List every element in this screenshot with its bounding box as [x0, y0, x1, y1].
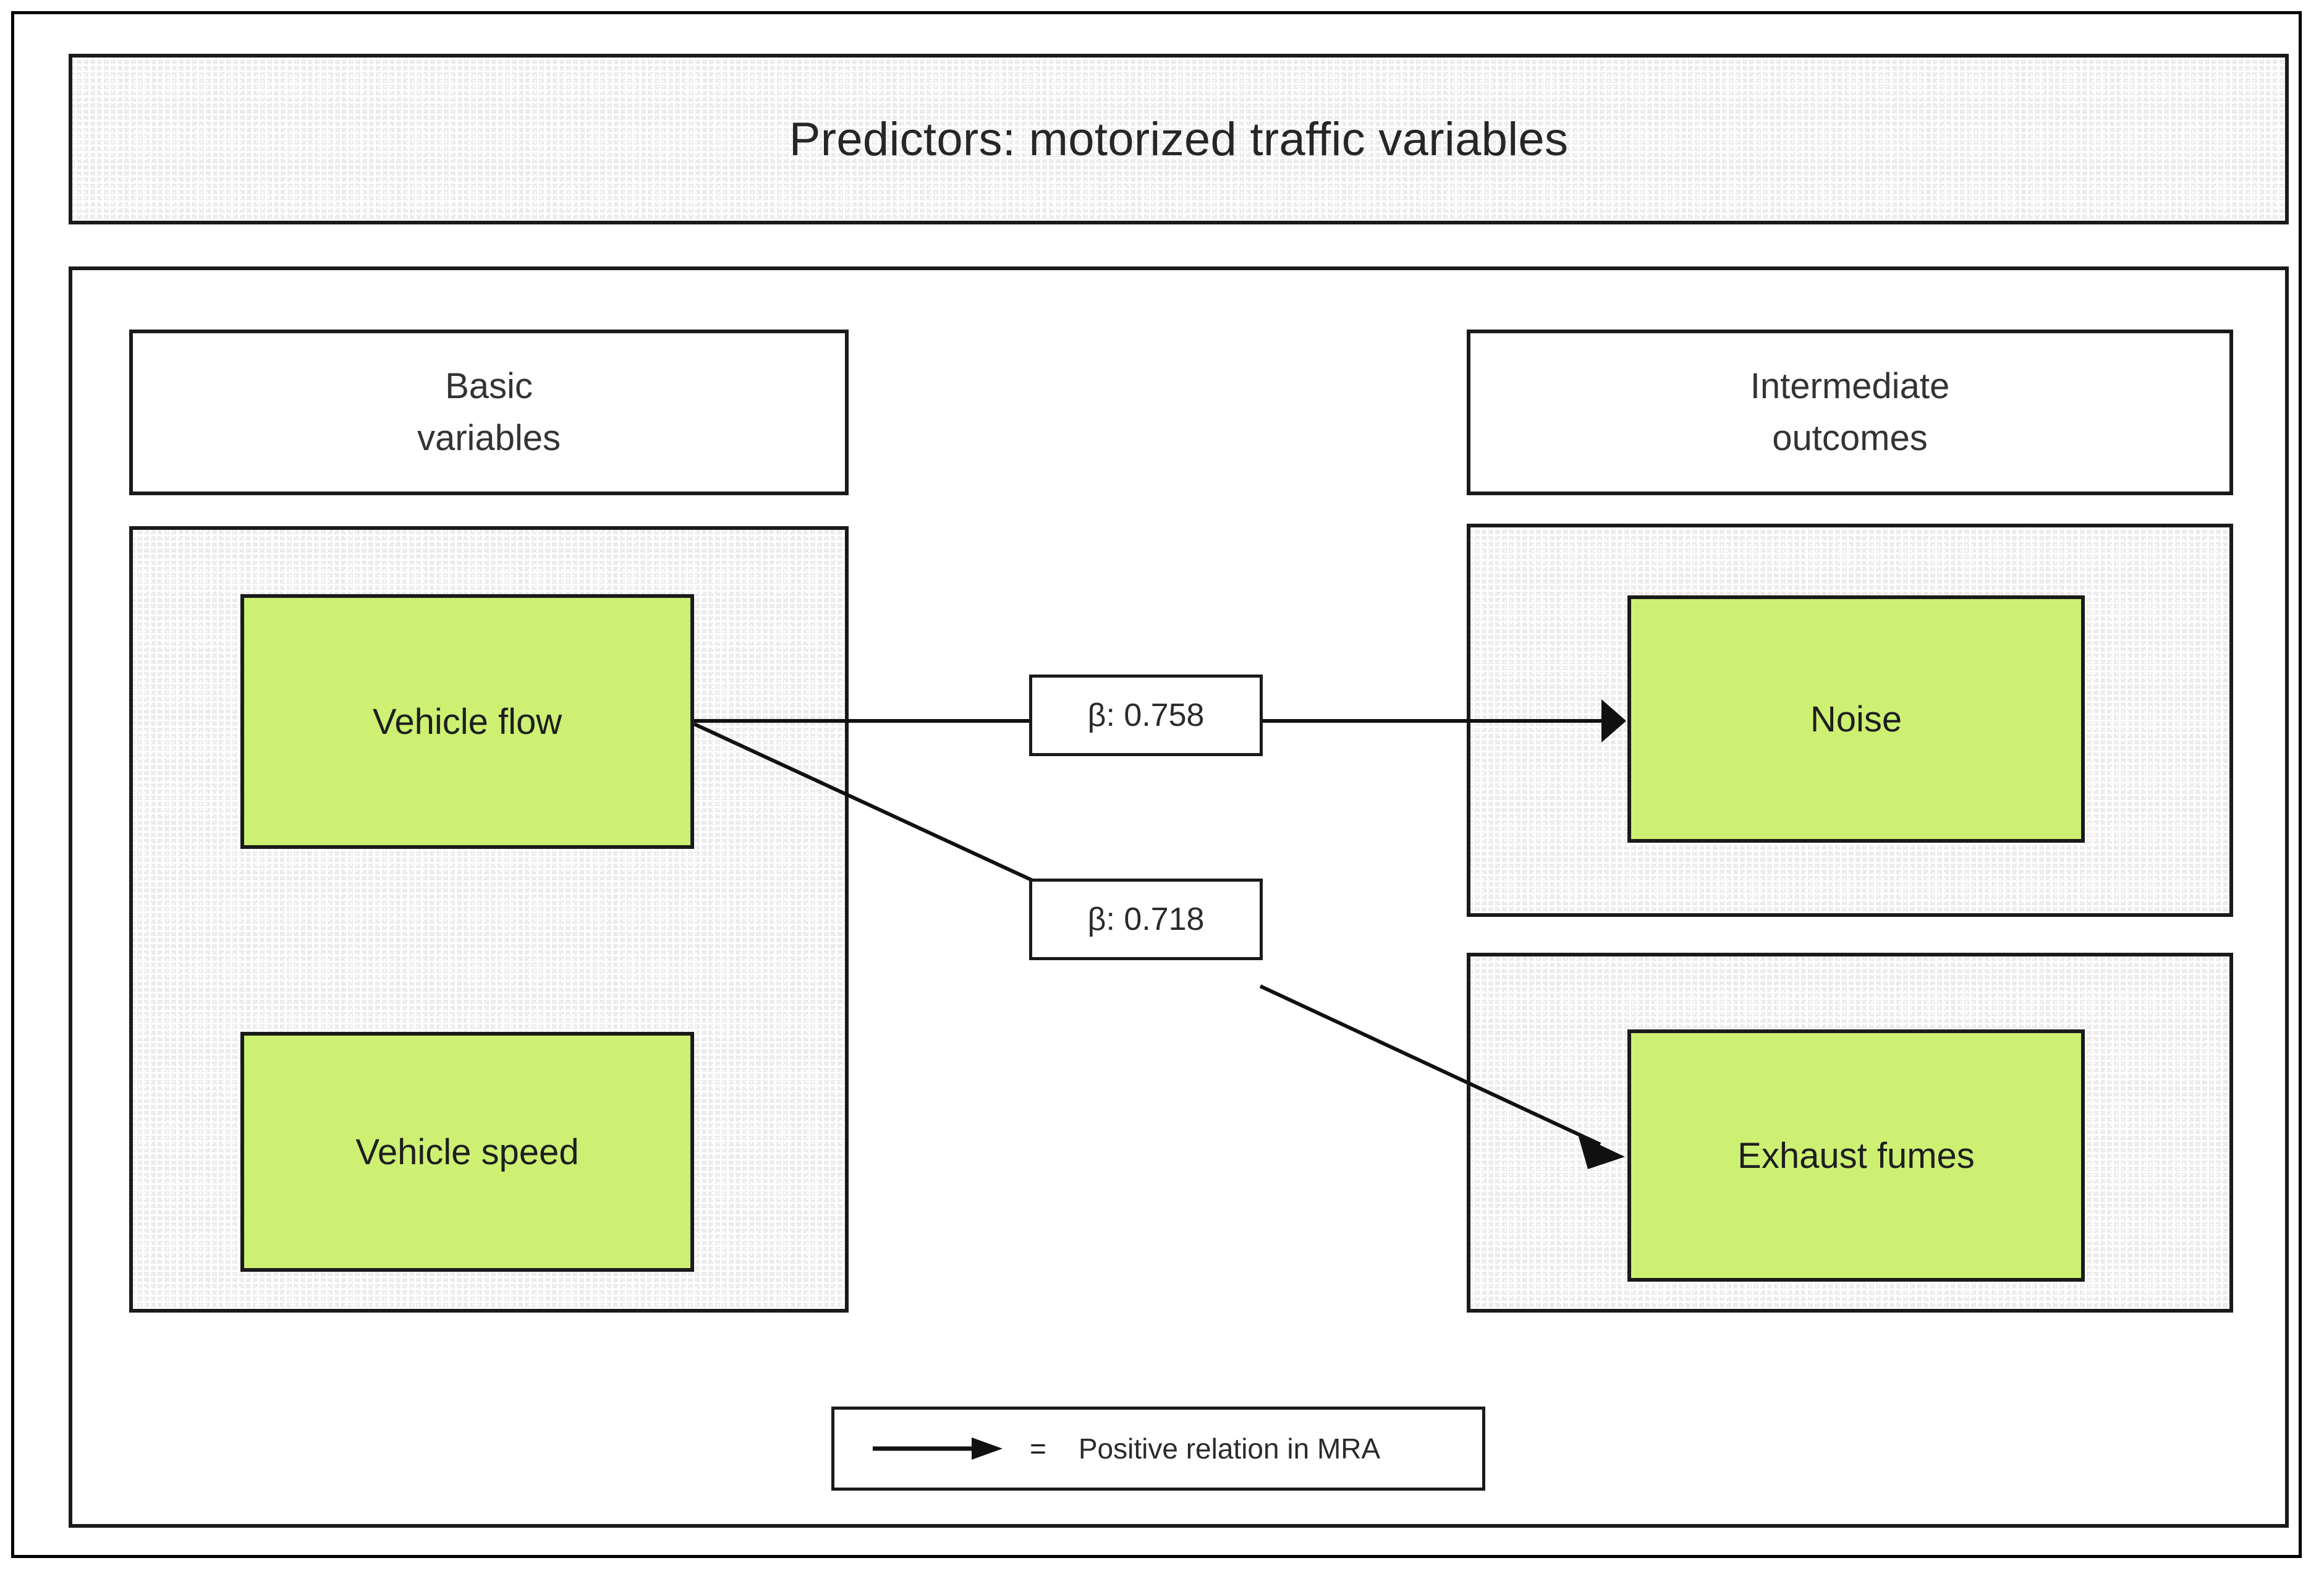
column-header-outcomes-line1: Intermediate — [1750, 360, 1949, 412]
legend: = Positive relation in MRA — [831, 1407, 1485, 1491]
figure-outer-border: Predictors: motorized traffic variables … — [11, 11, 2302, 1558]
legend-label: Positive relation in MRA — [1079, 1432, 1380, 1465]
column-header-basic-line2: variables — [417, 412, 561, 464]
column-header-basic-line1: Basic — [445, 360, 533, 412]
node-noise-label: Noise — [1810, 699, 1902, 740]
node-vehicle-flow[interactable]: Vehicle flow — [240, 594, 694, 849]
legend-equals-sign: = — [1030, 1432, 1046, 1465]
column-header-basic-variables: Basic variables — [129, 330, 849, 495]
page-title: Predictors: motorized traffic variables — [789, 113, 1569, 166]
edge-label-beta-noise: β: 0.758 — [1029, 675, 1263, 756]
figure-title-banner: Predictors: motorized traffic variables — [69, 54, 2289, 224]
node-exhaust-fumes[interactable]: Exhaust fumes — [1627, 1029, 2085, 1282]
column-header-outcomes-line2: outcomes — [1772, 412, 1927, 464]
edge-label-beta-exhaust: β: 0.718 — [1029, 879, 1263, 960]
node-vehicle-flow-label: Vehicle flow — [373, 701, 562, 743]
right-arrow-icon — [873, 1434, 1009, 1463]
node-noise[interactable]: Noise — [1627, 595, 2085, 843]
node-vehicle-speed-label: Vehicle speed — [355, 1131, 579, 1173]
node-vehicle-speed[interactable]: Vehicle speed — [240, 1032, 694, 1272]
node-exhaust-fumes-label: Exhaust fumes — [1737, 1135, 1975, 1177]
column-header-intermediate-outcomes: Intermediate outcomes — [1467, 330, 2233, 495]
edge-label-beta-noise-text: β: 0.758 — [1088, 697, 1205, 734]
edge-label-beta-exhaust-text: β: 0.718 — [1088, 901, 1205, 938]
